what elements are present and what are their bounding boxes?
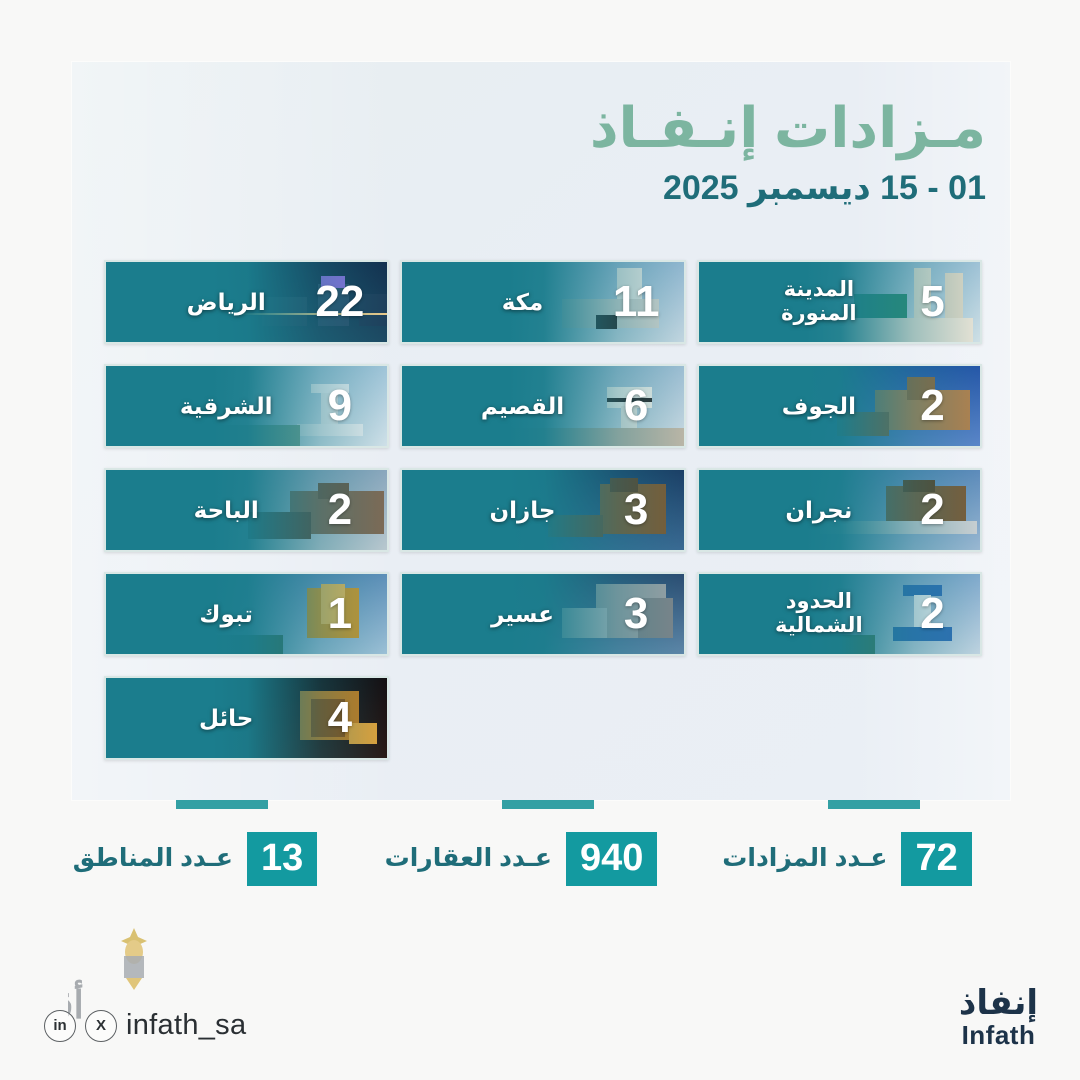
region-card[interactable]: 6القصيم xyxy=(400,364,685,448)
region-name: عسير xyxy=(402,601,588,627)
region-auction-count: 5 xyxy=(885,277,980,327)
stat-label: عـدد المزادات xyxy=(722,844,887,874)
stat-accent-bar xyxy=(502,800,594,809)
footer-social-block: أقوى in X infath_sa xyxy=(38,922,338,1052)
summary-stat: عـدد المناطق13 xyxy=(32,800,358,886)
region-name: الرياض xyxy=(106,289,292,315)
region-card[interactable]: 2نجران xyxy=(697,468,982,552)
region-card[interactable]: 2الحدودالشمالية xyxy=(697,572,982,656)
social-links[interactable]: in X infath_sa xyxy=(44,1009,246,1042)
region-name: مكة xyxy=(402,289,588,315)
region-card[interactable]: 3جازان xyxy=(400,468,685,552)
x-twitter-icon[interactable]: X xyxy=(85,1010,117,1042)
region-card[interactable]: 4حائل xyxy=(104,676,389,760)
region-card[interactable]: 2الباحة xyxy=(104,468,389,552)
stat-value-badge: 72 xyxy=(901,832,971,886)
region-auction-count: 22 xyxy=(292,277,387,327)
region-auction-count: 1 xyxy=(292,589,387,639)
region-name: المدينةالمنورة xyxy=(699,278,885,326)
region-grid: 5المدينةالمنورة2الجوف2نجران2الحدودالشمال… xyxy=(104,260,982,760)
main-panel: مـزادات إنـفـاذ 01 - 15 ديسمبر 2025 5الم… xyxy=(72,62,1010,800)
stat-label: عـدد المناطق xyxy=(73,844,233,874)
region-auction-count: 2 xyxy=(885,485,980,535)
region-auction-count: 3 xyxy=(589,485,684,535)
region-card[interactable]: 5المدينةالمنورة xyxy=(697,260,982,344)
date-range: 01 - 15 ديسمبر 2025 xyxy=(286,168,986,208)
stat-accent-bar xyxy=(828,800,920,809)
region-name: القصيم xyxy=(402,393,588,419)
region-card[interactable]: 9الشرقية xyxy=(104,364,389,448)
region-card[interactable]: 1تبوك xyxy=(104,572,389,656)
stat-value-badge: 940 xyxy=(566,832,657,886)
summary-stats: عـدد المزادات72عـدد العقارات940عـدد المن… xyxy=(32,800,1010,886)
summary-stat: عـدد العقارات940 xyxy=(358,800,684,886)
region-name: جازان xyxy=(402,497,588,523)
region-column-middle: 11مكة6القصيم3جازان3عسير xyxy=(400,260,685,760)
page-title: مـزادات إنـفـاذ xyxy=(286,96,986,160)
region-auction-count: 4 xyxy=(292,693,387,743)
region-auction-count: 3 xyxy=(589,589,684,639)
region-name: الجوف xyxy=(699,393,885,419)
stat-value-badge: 13 xyxy=(247,832,317,886)
region-name: الباحة xyxy=(106,497,292,523)
region-name: الحدودالشمالية xyxy=(699,590,885,638)
stat-accent-bar xyxy=(176,800,268,809)
header: مـزادات إنـفـاذ 01 - 15 ديسمبر 2025 xyxy=(286,96,986,208)
region-name: نجران xyxy=(699,497,885,523)
region-auction-count: 6 xyxy=(589,381,684,431)
region-card[interactable]: 3عسير xyxy=(400,572,685,656)
region-name: الشرقية xyxy=(106,393,292,419)
region-auction-count: 2 xyxy=(885,589,980,639)
social-handle[interactable]: infath_sa xyxy=(126,1009,246,1042)
region-name: تبوك xyxy=(106,601,292,627)
region-card[interactable]: 22الرياض xyxy=(104,260,389,344)
region-auction-count: 2 xyxy=(292,485,387,535)
region-auction-count: 11 xyxy=(589,277,684,327)
region-auction-count: 9 xyxy=(292,381,387,431)
region-card[interactable]: 2الجوف xyxy=(697,364,982,448)
brand-logo: إنفاذ Infath xyxy=(959,986,1038,1050)
brand-name-arabic: إنفاذ xyxy=(959,986,1038,1022)
stat-label: عـدد العقارات xyxy=(385,844,552,874)
region-auction-count: 2 xyxy=(885,381,980,431)
linkedin-icon[interactable]: in xyxy=(44,1010,76,1042)
region-column-right: 22الرياض9الشرقية2الباحة1تبوك4حائل xyxy=(104,260,389,760)
brand-name-english: Infath xyxy=(959,1021,1038,1050)
region-column-left: 5المدينةالمنورة2الجوف2نجران2الحدودالشمال… xyxy=(697,260,982,760)
region-name: حائل xyxy=(106,705,292,731)
region-card[interactable]: 11مكة xyxy=(400,260,685,344)
summary-stat: عـدد المزادات72 xyxy=(684,800,1010,886)
